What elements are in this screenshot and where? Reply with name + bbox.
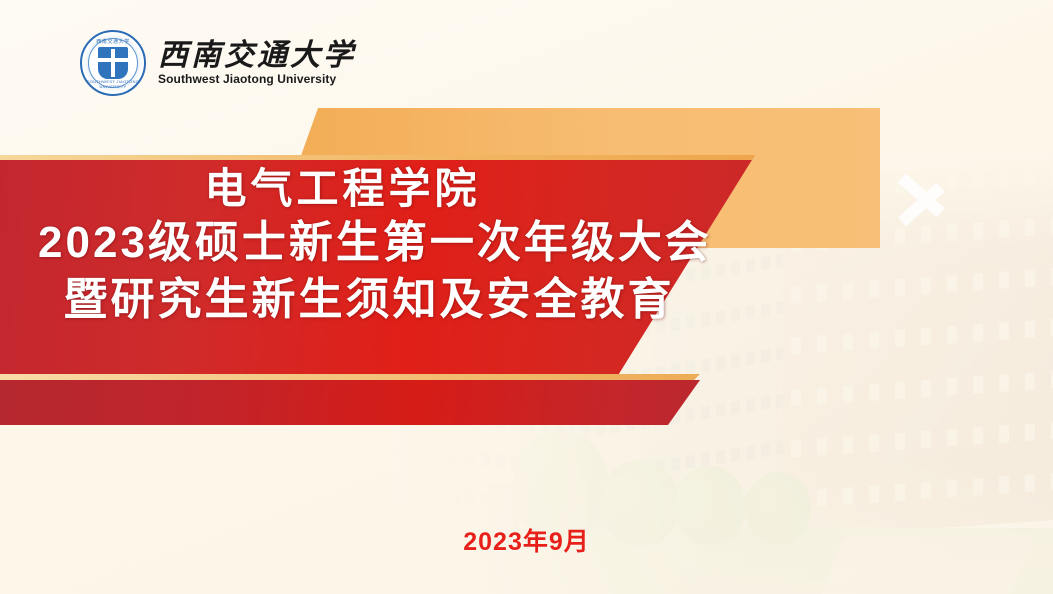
wordmark-chinese: 西南交通大学: [158, 40, 356, 72]
university-seal-icon: 西南交通大学 SOUTHWEST JIAOTONG UNIVERSITY: [80, 30, 146, 96]
seal-bottom-text: SOUTHWEST JIAOTONG UNIVERSITY: [82, 79, 144, 89]
gold-divider: [0, 374, 700, 380]
university-logo: 西南交通大学 SOUTHWEST JIAOTONG UNIVERSITY 西南交…: [80, 30, 356, 96]
seal-shield-icon: [98, 47, 128, 79]
presentation-slide: 西南交通大学 SOUTHWEST JIAOTONG UNIVERSITY 西南交…: [0, 0, 1053, 594]
slide-date: 2023年9月: [0, 522, 1053, 558]
wordmark-english: Southwest Jiaotong University: [158, 72, 356, 86]
university-wordmark: 西南交通大学 Southwest Jiaotong University: [158, 40, 356, 87]
chevron-right-icon: [898, 150, 954, 242]
seal-top-text: 西南交通大学: [82, 38, 144, 45]
red-accent-strip: [0, 380, 720, 425]
